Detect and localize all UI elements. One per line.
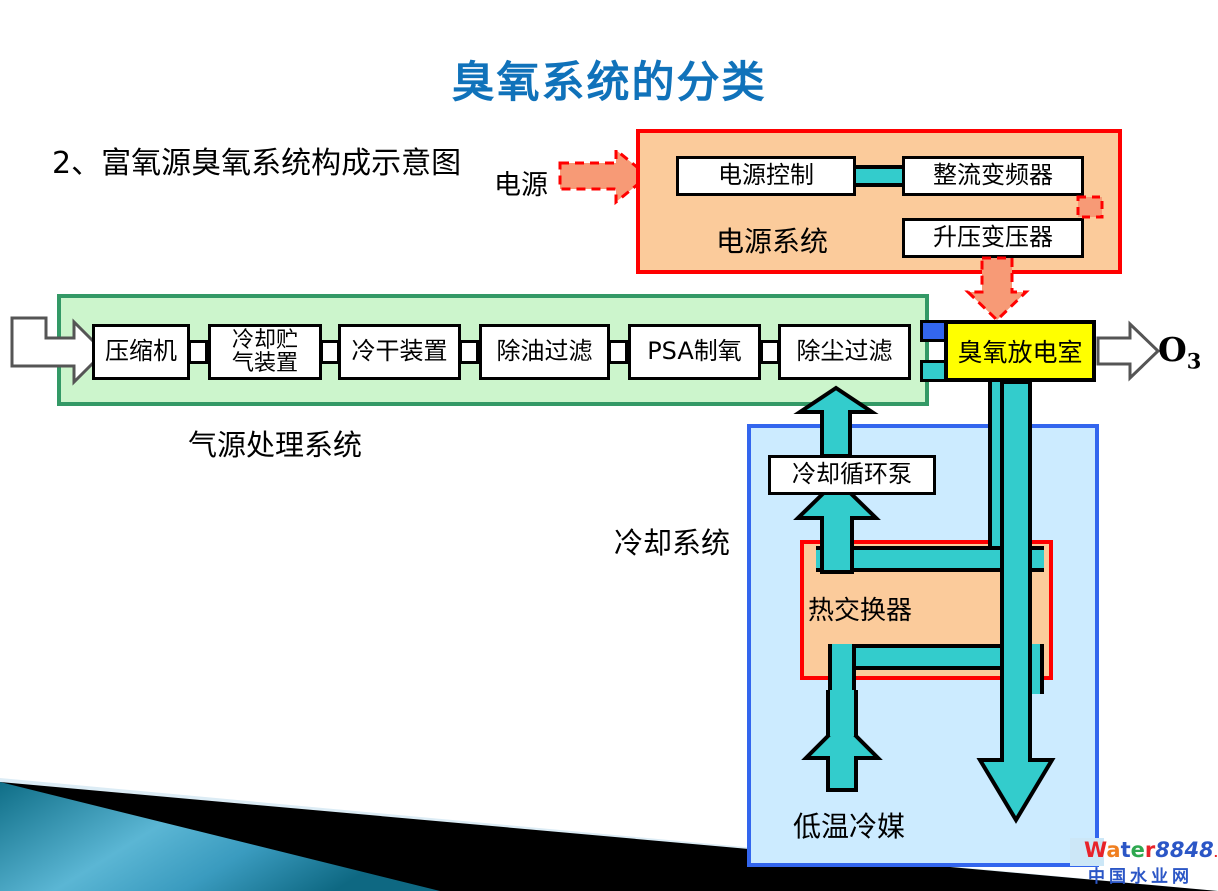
ozone-output-label: O3	[1158, 330, 1201, 374]
gas-connector-2	[320, 340, 340, 364]
power-system-label: 电源系统	[716, 220, 828, 260]
cooling-system-label: 冷却系统	[614, 520, 730, 562]
slide-canvas: 臭氧系统的分类 2、富氧源臭氧系统构成示意图 电源 电源系统 电源控制 整流变频…	[0, 0, 1218, 891]
power-input-label: 电源	[494, 163, 548, 202]
cooling-circulation-pump-box[interactable]: 冷却循环泵	[768, 455, 936, 495]
gas-system-label: 气源处理系统	[188, 422, 362, 464]
oil-removal-filter-box[interactable]: 除油过滤	[479, 324, 610, 380]
power-control-box[interactable]: 电源控制	[676, 156, 856, 196]
psa-oxygen-box[interactable]: PSA制氧	[628, 324, 761, 380]
cooling-storage-line2: 气装置	[232, 352, 298, 375]
pump-outlet-pipe	[822, 406, 850, 456]
refrigeration-dryer-box[interactable]: 冷干装置	[338, 324, 461, 380]
coolant-label: 低温冷媒	[793, 805, 905, 845]
gas-connector-3	[459, 340, 479, 364]
ozone-discharge-chamber-box[interactable]: 臭氧放电室	[944, 320, 1096, 382]
dust-removal-filter-box[interactable]: 除尘过滤	[778, 324, 911, 380]
exchanger-bottom-left-pipe	[828, 644, 856, 754]
watermark-cn: 中国水业网	[1088, 862, 1193, 887]
gas-connector-4	[608, 340, 628, 364]
exchanger-bottom-pipe	[828, 644, 1044, 670]
cooling-storage-box[interactable]: 冷却贮 气装置	[208, 324, 322, 380]
compressor-box[interactable]: 压缩机	[92, 324, 190, 380]
exchanger-bottom-right-pipe	[1016, 644, 1044, 694]
watermark-brand: Water8848.com	[1084, 838, 1218, 862]
gas-connector-1	[188, 340, 208, 364]
gas-connector-5	[760, 340, 780, 364]
step-up-transformer-box[interactable]: 升压变压器	[902, 218, 1084, 258]
ozone-to-exchanger-pipe-overlay	[988, 382, 1016, 564]
subtitle: 2、富氧源臭氧系统构成示意图	[52, 138, 461, 182]
watermark: Water8848.com 中国水业网	[1070, 838, 1216, 888]
heat-exchanger-label: 热交换器	[808, 590, 912, 627]
rectifier-inverter-box[interactable]: 整流变频器	[902, 156, 1084, 196]
page-title: 臭氧系统的分类	[0, 48, 1218, 110]
cooling-storage-line1: 冷却贮	[232, 329, 298, 352]
power-control-to-rectifier-pipe	[852, 165, 908, 187]
exchanger-top-pipe-overlay	[816, 546, 1044, 572]
